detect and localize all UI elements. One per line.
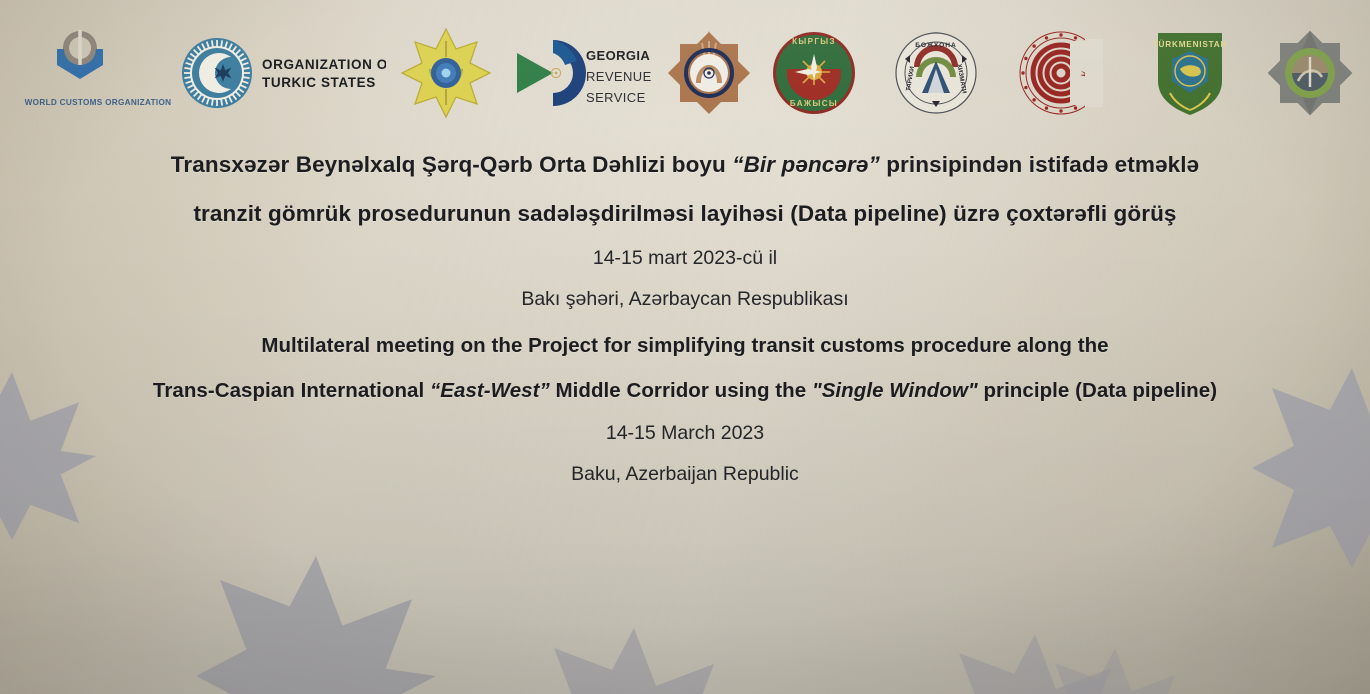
conference-banner: WORLD CUSTOMS ORGANIZATION ORG xyxy=(0,0,1370,694)
en-event-location: Baku, Azerbaijan Republic xyxy=(0,454,1370,495)
turkmenistan-wordmark: TÜRKMENISTAN xyxy=(1153,39,1228,49)
svg-text:БАЖЫСЫ: БАЖЫСЫ xyxy=(790,99,838,108)
logo-kyrgyz-customs-service: КЫРГЫЗ БАЖЫСЫ xyxy=(768,18,860,128)
georgia-revenue-service-icon: GEORGIA REVENUE SERVICE xyxy=(505,27,665,119)
world-customs-organization-icon: WORLD CUSTOMS ORGANIZATION xyxy=(23,23,173,123)
en-title-part-a: Trans-Caspian International xyxy=(153,379,430,402)
organization-of-turkic-states-icon: ORGANIZATION OF TURKIC STATES xyxy=(176,28,386,118)
uzbekistan-green-star-emblem-icon xyxy=(1262,25,1358,121)
grs-wordmark-line1: GEORGIA xyxy=(586,48,650,63)
az-title-line-1: Transxəzər Beynəlxalq Şərq-Qərb Orta Dəh… xyxy=(0,140,1370,189)
az-event-date: 14-15 mart 2023-cü il xyxy=(0,238,1370,279)
turkiye-ministry-of-trade-icon xyxy=(1013,25,1109,121)
az-title-quote: “Bir pəncərə” xyxy=(732,152,880,177)
logo-kazakhstan-state-revenue-committee xyxy=(663,18,755,128)
logo-uzbekistan-customs-emblem xyxy=(1262,18,1358,128)
ots-wordmark-line1: ORGANIZATION OF xyxy=(262,57,386,72)
en-title-quote-east-west: “East-West” xyxy=(430,379,550,402)
azerbaijan-customs-star-icon xyxy=(400,25,492,121)
uzbekistan-customs-seal-icon: БОЖХОНА ТАРИХИ ХИЗМАТИ xyxy=(888,25,984,121)
en-title-part-b: Middle Corridor using the xyxy=(550,379,812,402)
kazakhstan-customs-emblem-icon xyxy=(663,24,755,122)
az-event-location: Bakı şəhəri, Azərbaycan Respublikası xyxy=(0,279,1370,320)
en-event-date: 14-15 March 2023 xyxy=(0,413,1370,454)
en-title-quote-single-window: "Single Window" xyxy=(812,379,978,402)
logo-turkiye-ministry-of-trade xyxy=(1013,18,1109,128)
en-title-line-2: Trans-Caspian International “East-West” … xyxy=(0,368,1370,413)
grs-wordmark-line2: REVENUE xyxy=(586,69,652,84)
en-title-part-c: principle (Data pipeline) xyxy=(978,379,1217,402)
grs-wordmark-line3: SERVICE xyxy=(586,90,646,105)
wco-wordmark: WORLD CUSTOMS ORGANIZATION xyxy=(25,98,172,107)
az-title-part-a: Transxəzər Beynəlxalq Şərq-Qərb Orta Dəh… xyxy=(171,152,732,177)
logo-organization-of-turkic-states: ORGANIZATION OF TURKIC STATES xyxy=(176,18,386,128)
ots-wordmark-line2: TURKIC STATES xyxy=(262,75,376,90)
svg-text:БОЖХОНА: БОЖХОНА xyxy=(915,42,957,49)
logo-azerbaijan-state-customs-committee xyxy=(400,18,492,128)
event-text-block: Transxəzər Beynəlxalq Şərq-Qərb Orta Dəh… xyxy=(0,140,1370,495)
az-title-part-b: prinsipindən istifadə etməklə xyxy=(880,152,1199,177)
kyrgyz-customs-emblem-icon: КЫРГЫЗ БАЖЫСЫ xyxy=(768,27,860,119)
en-title-line-1: Multilateral meeting on the Project for … xyxy=(0,323,1370,368)
svg-text:КЫРГЫЗ: КЫРГЫЗ xyxy=(792,37,836,46)
logo-georgia-revenue-service: GEORGIA REVENUE SERVICE xyxy=(505,18,665,128)
partner-logo-strip: WORLD CUSTOMS ORGANIZATION ORG xyxy=(0,18,1370,128)
logo-world-customs-organization: WORLD CUSTOMS ORGANIZATION xyxy=(18,18,178,128)
logo-uzbekistan-state-customs-committee: БОЖХОНА ТАРИХИ ХИЗМАТИ xyxy=(888,18,984,128)
turkmenistan-customs-shield-icon: TÜRKMENISTAN xyxy=(1140,23,1240,123)
logo-turkmenistan-state-customs-service: TÜRKMENISTAN xyxy=(1140,18,1240,128)
az-title-line-2: tranzit gömrük prosedurunun sadələşdiril… xyxy=(0,189,1370,238)
